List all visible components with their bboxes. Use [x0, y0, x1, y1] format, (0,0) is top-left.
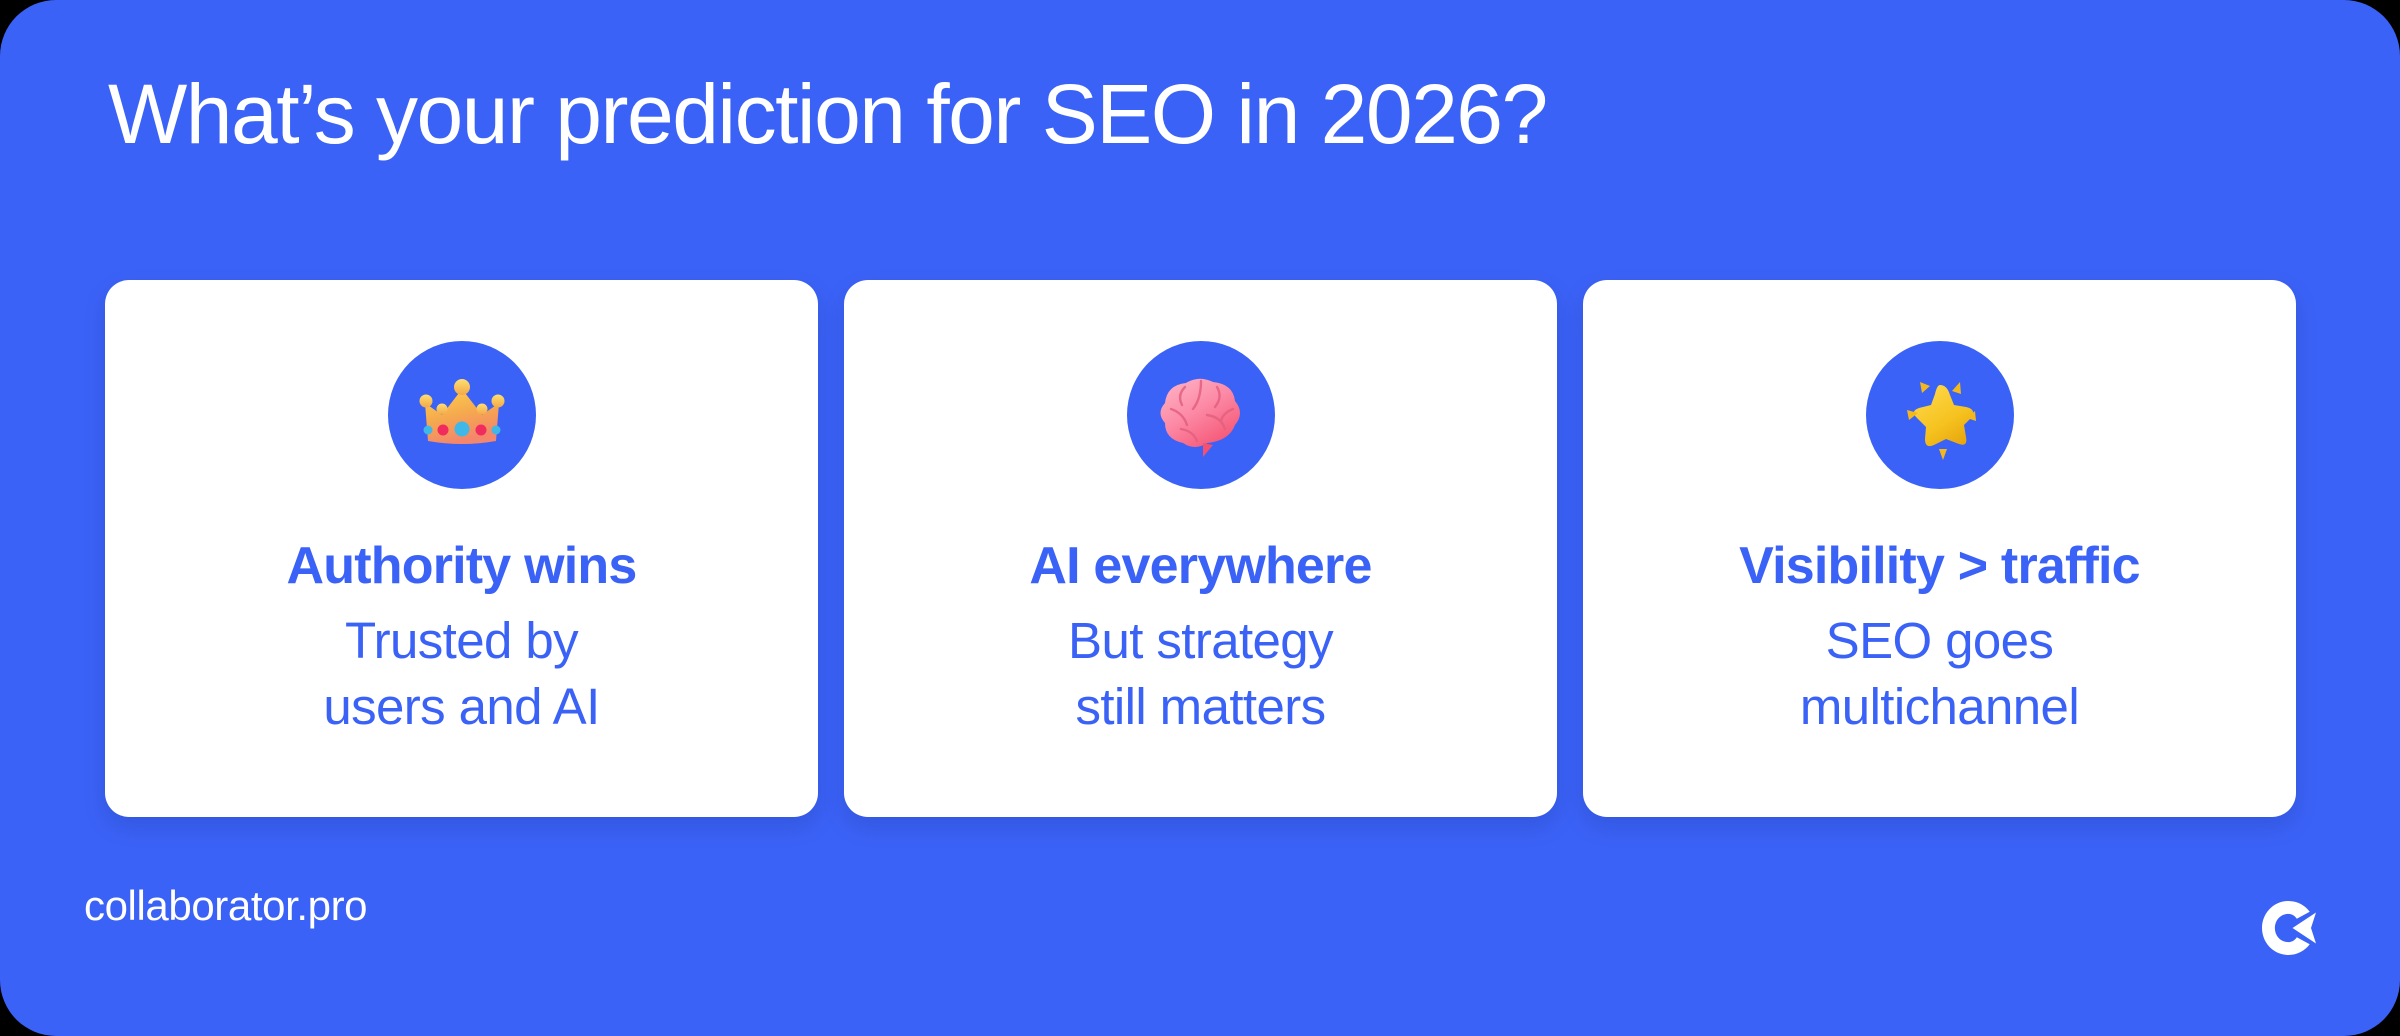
page-title: What’s your prediction for SEO in 2026? [108, 62, 2308, 166]
glowing-star-icon [1866, 341, 2014, 489]
prediction-card-2[interactable]: AI everywhere But strategy still matters [844, 280, 1557, 817]
card-body-line: Trusted by [323, 608, 599, 674]
card-body-line: SEO goes [1800, 608, 2079, 674]
collaborator-logo-icon [2248, 888, 2328, 968]
card-body: But strategy still matters [1068, 608, 1333, 740]
footer-url[interactable]: collaborator.pro [84, 878, 367, 934]
card-body-line: still matters [1068, 674, 1333, 740]
card-body-line: But strategy [1068, 608, 1333, 674]
prediction-card-1[interactable]: Authority wins Trusted by users and AI [105, 280, 818, 817]
card-body-line: multichannel [1800, 674, 2079, 740]
card-heading: Authority wins [287, 536, 637, 596]
crown-icon [388, 341, 536, 489]
card-body: Trusted by users and AI [323, 608, 599, 740]
card-body-line: users and AI [323, 674, 599, 740]
card-heading: AI everywhere [1029, 536, 1371, 596]
card-heading: Visibility > traffic [1739, 536, 2140, 596]
prediction-card-3[interactable]: Visibility > traffic SEO goes multichann… [1583, 280, 2296, 817]
card-body: SEO goes multichannel [1800, 608, 2079, 740]
prediction-cards-row: Authority wins Trusted by users and AI [105, 280, 2296, 817]
poster-canvas: What’s your prediction for SEO in 2026? [0, 0, 2400, 1036]
brain-icon [1127, 341, 1275, 489]
